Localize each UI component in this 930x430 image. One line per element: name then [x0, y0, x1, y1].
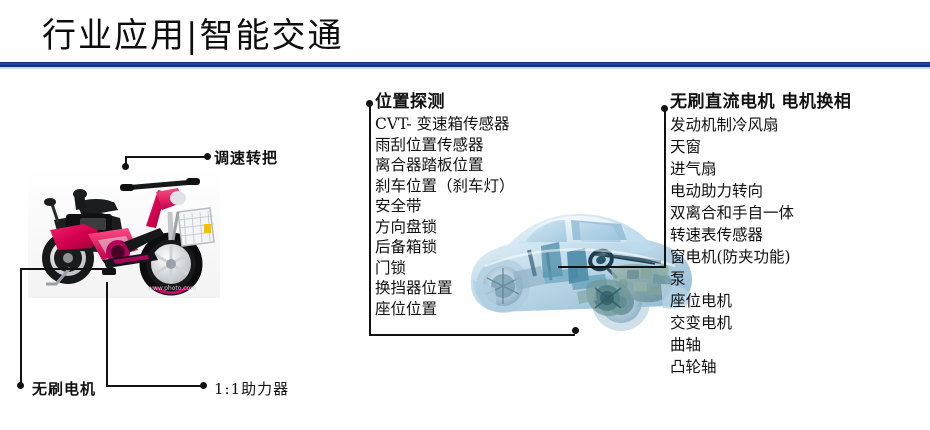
list-item: 凸轮轴 [670, 356, 851, 378]
divider-inner-bar [0, 63, 930, 65]
callout-throttle: 调速转把 [214, 147, 278, 168]
throttle-leader-horizontal [125, 156, 207, 158]
list-item: 门锁 [375, 258, 515, 279]
list-item: 进气扇 [670, 158, 851, 180]
list-item: 窗电机(防夹功能) [670, 246, 851, 268]
motor-leader-horizontal [20, 268, 108, 270]
electric-bicycle-image: www.photo.com [28, 168, 220, 298]
motor-label-dot [17, 382, 24, 389]
booster-label-dot [200, 382, 207, 389]
list-item: 转速表传感器 [670, 224, 851, 246]
left-list-leader-horizontal [369, 334, 575, 336]
callout-brushless-motor: 无刷电机 [32, 378, 96, 399]
list-item: 曲轴 [670, 334, 851, 356]
right-list-items: 发动机制冷风扇 天窗 进气扇 电动助力转向 双离合和手自一体 转速表传感器 窗电… [670, 114, 851, 378]
position-detection-panel: 位置探测 CVT- 变速箱传感器 雨刮位置传感器 离合器踏板位置 刹车位置（刹车… [375, 92, 515, 319]
list-item: 方向盘锁 [375, 217, 515, 238]
left-list-items: CVT- 变速箱传感器 雨刮位置传感器 离合器踏板位置 刹车位置（刹车灯） 安全… [375, 114, 515, 319]
list-item: 座位位置 [375, 299, 515, 320]
list-item: 雨刮位置传感器 [375, 135, 515, 156]
throttle-label-dot [204, 153, 211, 160]
page-title: 行业应用|智能交通 [42, 8, 343, 57]
list-item: 刹车位置（刹车灯） [375, 176, 515, 197]
list-item: 双离合和手自一体 [670, 202, 851, 224]
slide-canvas: 行业应用|智能交通 [0, 0, 930, 430]
list-item: 发动机制冷风扇 [670, 114, 851, 136]
left-list-heading: 位置探测 [375, 92, 515, 112]
list-item: 交变电机 [670, 312, 851, 334]
list-item: 天窗 [670, 136, 851, 158]
list-item: 安全带 [375, 196, 515, 217]
list-item: 离合器踏板位置 [375, 155, 515, 176]
svg-text:www.photo.com: www.photo.com [148, 285, 196, 292]
title-divider [0, 62, 930, 67]
list-item: 电动助力转向 [670, 180, 851, 202]
left-list-target-dot [572, 327, 579, 334]
list-item: CVT- 变速箱传感器 [375, 114, 515, 135]
list-item: 换挡器位置 [375, 278, 515, 299]
left-list-leader-vertical [369, 104, 371, 335]
callout-booster: 1:1助力器 [214, 378, 289, 399]
booster-leader-vertical [106, 282, 108, 386]
right-list-leader-horizontal [558, 266, 666, 268]
list-item: 座位电机 [670, 290, 851, 312]
motor-leader-vertical [20, 268, 22, 386]
divider-shadow-bar [0, 67, 930, 69]
list-item: 后备箱锁 [375, 237, 515, 258]
list-item: 泵 [670, 268, 851, 290]
bldc-motor-panel: 无刷直流电机 电机换相 发动机制冷风扇 天窗 进气扇 电动助力转向 双离合和手自… [670, 92, 851, 378]
right-list-leader-vertical [664, 109, 666, 267]
booster-leader-horizontal [106, 385, 204, 387]
right-list-heading: 无刷直流电机 电机换相 [670, 92, 851, 112]
